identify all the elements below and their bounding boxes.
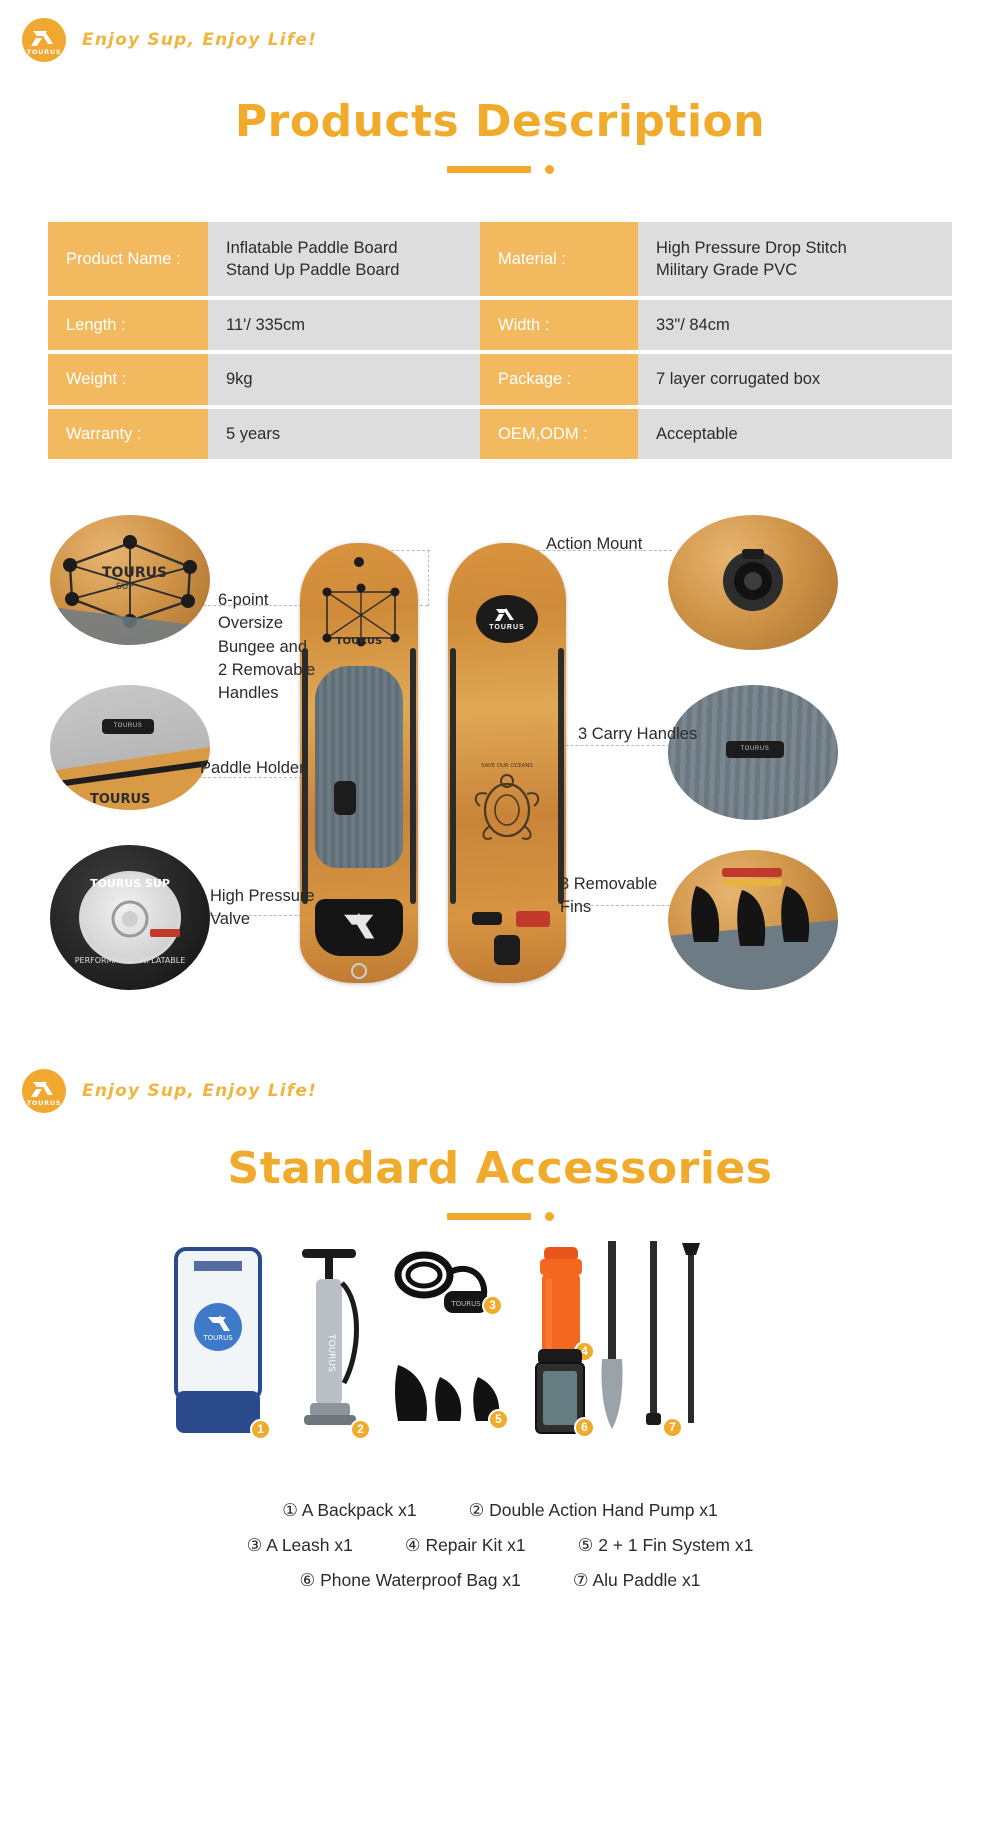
brand-tagline: Enjoy Sup, Enjoy Life! [82,1081,317,1101]
svg-text:TOURUS: TOURUS [450,1300,481,1308]
legend-item-1: ① A Backpack x1 [282,1500,416,1521]
turtle-graphic: SAVE OUR OCEANS [464,758,550,854]
legend-row: ③ A Leash x1 ④ Repair Kit x1 ⑤ 2 + 1 Fin… [140,1528,860,1563]
specification-table: Product Name : Inflatable Paddle Board S… [48,218,952,463]
legend-label: A Backpack x1 [302,1500,417,1520]
legend-item-7: ⑦ Alu Paddle x1 [573,1570,701,1591]
accessory-phone-waterproof-bag: 6 [528,1347,592,1439]
legend-label: Double Action Hand Pump x1 [489,1500,718,1520]
legend-label: Alu Paddle x1 [592,1570,700,1590]
brand-bar: TOURUS Enjoy Sup, Enjoy Life! [0,0,1000,62]
deco-dot [545,1212,554,1221]
page-title-products-description: Products Description [0,96,1000,147]
page-title-standard-accessories: Standard Accessories [0,1143,1000,1194]
accessories-legend: ① A Backpack x1 ② Double Action Hand Pum… [140,1493,860,1598]
tail-handle [494,935,520,965]
svg-text:PERFORMANCE INFLATABLE: PERFORMANCE INFLATABLE [75,956,186,965]
legend-item-5: ⑤ 2 + 1 Fin System x1 [578,1535,754,1556]
spec-key: Length : [48,300,208,350]
callout-fins-label: 3 Removable Fins [560,873,680,920]
spec-key: OEM,ODM : [480,409,638,459]
legend-number: ② [469,1500,485,1520]
legend-number: ⑤ [578,1535,594,1555]
svg-text:TOURUS SUP: TOURUS SUP [90,877,170,890]
legend-label: Repair Kit x1 [425,1535,525,1555]
tourus-logo-icon: TOURUS [22,18,66,62]
accessory-badge-7: 7 [662,1417,683,1438]
spec-key: Warranty : [48,409,208,459]
svg-text:TOURUS: TOURUS [102,565,167,581]
callout-bungee-label: 6-point Oversize Bungee and 2 Removable … [218,589,338,706]
feature-photo-valve: TOURUS SUP PERFORMANCE INFLATABLE [50,845,210,990]
spec-value: Inflatable Paddle Board Stand Up Paddle … [208,222,480,296]
legend-number: ③ [247,1535,263,1555]
deck-logo-text: TOURUS [336,636,382,647]
spec-value: Acceptable [638,409,952,459]
accessory-badge-5: 5 [488,1409,509,1430]
bottom-logo-badge: TOURUS [476,595,538,643]
accessory-fin-system: 5 [392,1347,512,1431]
spec-value: 33"/ 84cm [638,300,952,350]
feature-photo-paddle-holder: TOURUS TOURUS [50,685,210,810]
title-decoration [0,165,1000,174]
title-decoration [0,1212,1000,1221]
legend-row: ⑥ Phone Waterproof Bag x1 ⑦ Alu Paddle x… [140,1563,860,1598]
nose-dring-icon [354,557,364,567]
callout-valve-label: High Pressure Valve [210,885,330,932]
accessory-badge-2: 2 [350,1419,371,1440]
fin-box-mark [472,912,502,925]
spec-key: Product Name : [48,222,208,296]
feature-photo-action-mount [668,515,838,650]
svg-text:SUP: SUP [116,582,134,592]
callout-paddle-holder-label: Paddle Holder [200,757,305,780]
feature-photo-carry-handle: TOURUS [668,685,838,820]
center-carry-handle [334,781,356,815]
legend-label: A Leash x1 [266,1535,353,1555]
svg-text:TOURUS: TOURUS [202,1334,233,1342]
legend-item-4: ④ Repair Kit x1 [405,1535,526,1556]
svg-text:TOURUS: TOURUS [27,48,61,56]
accessory-alu-paddle: 7 [600,1239,710,1439]
board-rail-right [410,648,416,903]
legend-number: ⑥ [300,1570,316,1590]
board-rail-right [558,648,564,903]
spec-value: 9kg [208,354,480,404]
table-row: Product Name : Inflatable Paddle Board S… [48,222,952,296]
brand-tagline: Enjoy Sup, Enjoy Life! [82,30,317,50]
accessory-backpack: TOURUS 1 [168,1241,268,1441]
legend-item-3: ③ A Leash x1 [247,1535,353,1556]
accessory-badge-6: 6 [574,1417,595,1438]
deco-bar [447,166,531,173]
spec-value: 5 years [208,409,480,459]
brand-bar-secondary: TOURUS Enjoy Sup, Enjoy Life! [0,1051,1000,1113]
legend-number: ⑦ [573,1570,589,1590]
sticker-label [516,911,550,927]
spec-key: Width : [480,300,638,350]
feature-photo-bungee: TOURUS SUP [50,515,210,645]
legend-row: ① A Backpack x1 ② Double Action Hand Pum… [140,1493,860,1528]
bottom-logo-text: TOURUS [489,624,524,631]
callout-carry-handles-label: 3 Carry Handles [578,723,697,746]
legend-label: Phone Waterproof Bag x1 [320,1570,521,1590]
legend-item-6: ⑥ Phone Waterproof Bag x1 [300,1570,521,1591]
board-bottom-view: TOURUS SAVE OUR OCEANS [448,543,566,983]
valve-on-board-icon [351,963,367,979]
board-body: TOURUS SAVE OUR OCEANS [448,543,566,983]
accessory-leash: TOURUS 3 [388,1243,508,1329]
svg-text:TOURUS: TOURUS [90,792,150,807]
accessory-badge-3: 3 [482,1295,503,1316]
tourus-logo-icon: TOURUS [22,1069,66,1113]
callout-action-mount-label: Action Mount [546,533,642,556]
deco-bar [447,1213,531,1220]
table-row: Warranty : 5 years OEM,ODM : Acceptable [48,409,952,459]
spec-value: 7 layer corrugated box [638,354,952,404]
accessories-gallery: TOURUS 1 TOURUS 2 TOURUS 3 [0,1229,1000,1479]
legend-number: ④ [405,1535,421,1555]
legend-item-2: ② Double Action Hand Pump x1 [469,1500,718,1521]
spec-key: Material : [480,222,638,296]
accessory-badge-1: 1 [250,1419,271,1440]
feature-photo-fins [668,850,838,990]
board-rail-left [450,648,456,903]
svg-text:TOURUS: TOURUS [27,1099,61,1107]
callout-line [428,550,429,606]
accessory-hand-pump: TOURUS 2 [292,1243,366,1439]
table-row: Weight : 9kg Package : 7 layer corrugate… [48,354,952,404]
table-row: Length : 11'/ 335cm Width : 33"/ 84cm [48,300,952,350]
legend-label: 2 + 1 Fin System x1 [598,1535,753,1555]
spec-key: Weight : [48,354,208,404]
deco-dot [545,165,554,174]
feature-diagram: TOURUS SUP TOURUS TOURUS TOURUS SUP PERF… [0,505,1000,1025]
turtle-caption: SAVE OUR OCEANS [481,763,533,769]
spec-key: Package : [480,354,638,404]
legend-number: ① [282,1500,298,1520]
accessory-repair-kit: 4 [532,1243,590,1361]
spec-value: 11'/ 335cm [208,300,480,350]
svg-text:TOURUS: TOURUS [326,1333,336,1372]
spec-value: High Pressure Drop Stitch Military Grade… [638,222,952,296]
carry-handle-icon: TOURUS [726,741,784,758]
